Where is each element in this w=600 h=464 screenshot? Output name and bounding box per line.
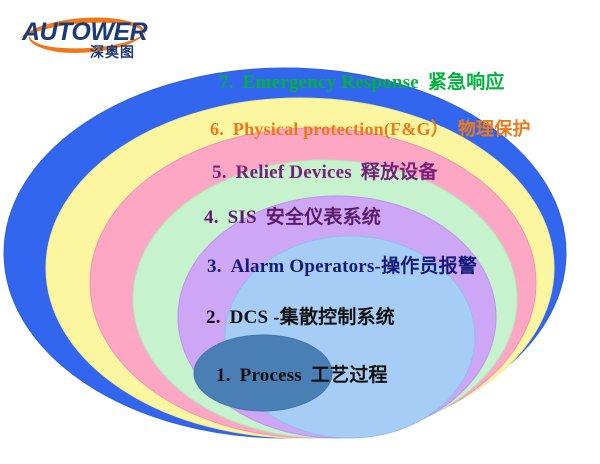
layer-3-label-cn: 操作员报警 [381,255,477,277]
layer-3-label-en: Alarm Operators- [231,256,381,277]
layer-5-label-cn: 释放设备 [361,161,438,183]
layer-3-number: 3. [207,256,222,277]
layer-7-label-cn: 紧急响应 [428,71,505,93]
diagram-canvas: AUTOWER 深奥图 7.Emergency Response紧急响应 6. [0,0,600,464]
layer-6-number: 6. [210,119,224,139]
layer-1-label-cn: 工艺过程 [311,364,388,386]
layer-2-label-en: DCS - [230,307,280,328]
layer-4-label-en: SIS [228,207,257,228]
layer-6-label-cn: 物理保护 [458,119,531,140]
layer-5-number: 5. [212,162,227,183]
layer-3-label: 3.Alarm Operators-操作员报警 [207,257,477,276]
layer-7-label-en: Emergency Response [243,72,419,93]
layer-5-label: 5.Relief Devices释放设备 [212,163,438,182]
layer-7-label: 7.Emergency Response紧急响应 [219,73,505,92]
layer-4-label-cn: 安全仪表系统 [266,206,381,228]
layer-2-label-cn: 集散控制系统 [280,306,395,328]
layer-7-number: 7. [219,72,234,93]
layer-4-number: 4. [204,207,219,228]
layers-of-protection-ellipses [0,0,600,464]
layer-1-number: 1. [216,365,231,386]
layer-2-label: 2.DCS -集散控制系统 [206,308,395,327]
layer-4-label: 4.SIS安全仪表系统 [204,208,381,227]
layer-6-label: 6.Physical protection(F&G）物理保护 [210,120,531,139]
layer-6-label-en: Physical protection(F&G） [233,119,449,139]
layer-2-number: 2. [206,307,221,328]
layer-1-label: 1.Process工艺过程 [216,366,388,385]
layer-5-label-en: Relief Devices [236,162,352,183]
layer-1-label-en: Process [240,365,302,386]
